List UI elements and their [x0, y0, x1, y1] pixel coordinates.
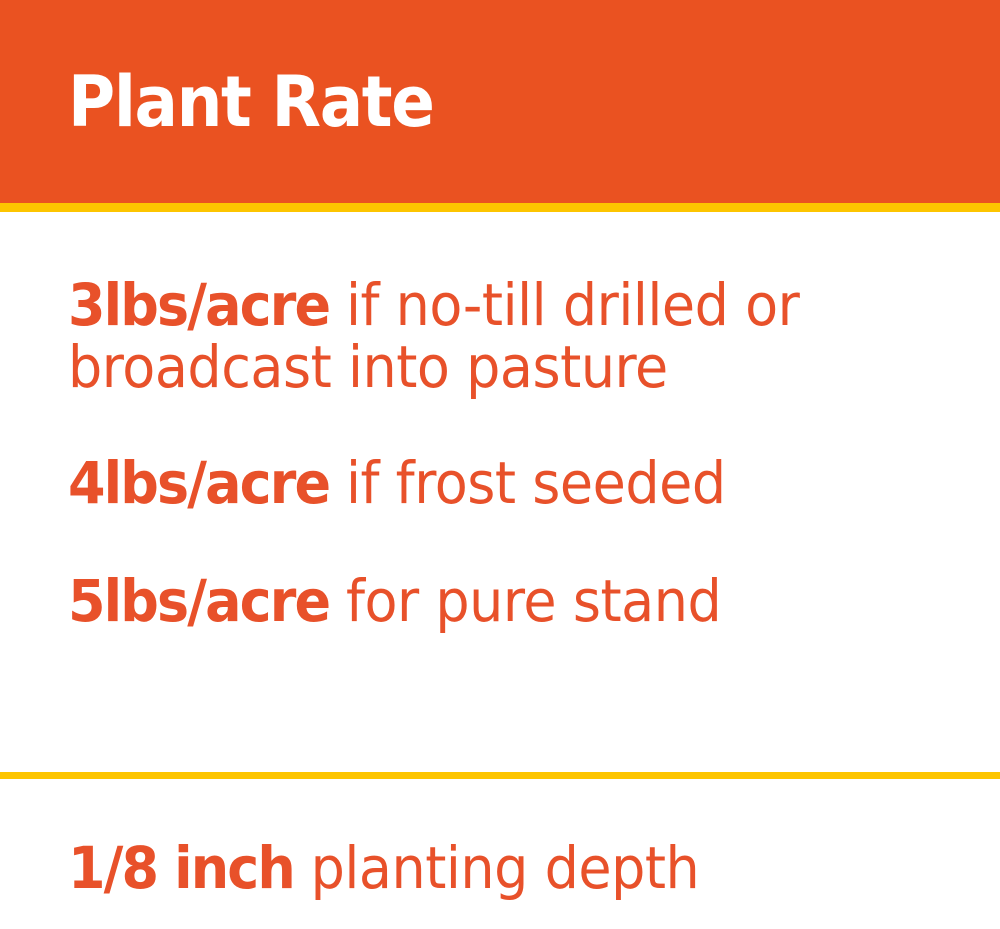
rate-item-2: 4lbs/acre if frost seeded — [68, 452, 907, 514]
card-header: Plant Rate — [0, 0, 1000, 203]
depth-description: planting depth — [294, 834, 699, 902]
rate-item-3: 5lbs/acre for pure stand — [68, 570, 907, 632]
plant-rate-infocard: Plant Rate 3lbs/acre if no-till drilled … — [0, 0, 1000, 929]
rate-description-2: if frost seeded — [329, 449, 725, 517]
rate-amount-3: 5lbs/acre — [68, 567, 329, 635]
page-title: Plant Rate — [68, 66, 433, 138]
divider-rule-middle — [0, 772, 1000, 779]
seeding-rates-section: 3lbs/acre if no-till drilled or broadcas… — [0, 212, 1000, 772]
rate-amount-2: 4lbs/acre — [68, 449, 329, 517]
divider-rule-top — [0, 203, 1000, 212]
rate-amount-1: 3lbs/acre — [68, 271, 329, 339]
rate-item-1: 3lbs/acre if no-till drilled or broadcas… — [68, 274, 907, 398]
planting-depth-section: 1/8 inch planting depth — [0, 779, 1000, 929]
rate-description-3: for pure stand — [329, 567, 721, 635]
depth-item: 1/8 inch planting depth — [68, 837, 907, 899]
depth-amount: 1/8 inch — [68, 834, 294, 902]
